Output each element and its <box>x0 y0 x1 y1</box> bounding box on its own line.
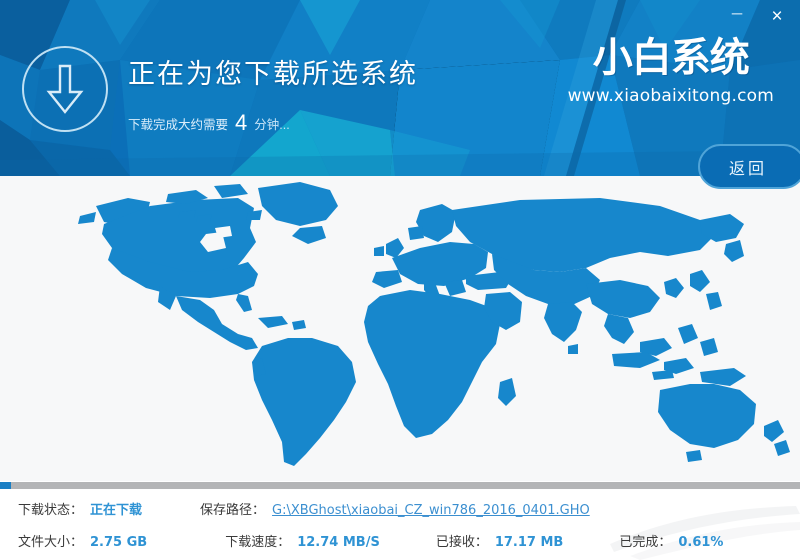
world-map-icon <box>0 176 800 481</box>
brand-name: 小白系统 <box>568 38 774 78</box>
world-map-panel <box>0 176 800 481</box>
value-download-status: 正在下载 <box>90 499 142 518</box>
progress-bar-track[interactable] <box>0 482 800 489</box>
header-banner: – × 正在为您下载所选系统 下载完成大约需要 4 分钟... 小白系统 www… <box>0 0 800 176</box>
eta-line: 下载完成大约需要 4 分钟... <box>128 109 418 135</box>
close-button[interactable]: × <box>764 4 790 28</box>
status-row-secondary: 文件大小： 2.75 GB 下载速度： 12.74 MB/S 已接收： 17.1… <box>0 531 800 550</box>
value-file-size: 2.75 GB <box>90 535 147 550</box>
value-completed: 0.61% <box>678 535 723 550</box>
stat-save-path: 保存路径： G:\XBGhost\xiaobai_CZ_win786_2016_… <box>200 499 590 518</box>
minimize-button[interactable]: – <box>724 4 750 28</box>
download-circle-icon <box>22 46 108 132</box>
eta-prefix: 下载完成大约需要 <box>128 114 228 133</box>
label-received: 已接收： <box>436 531 488 550</box>
progress-bar-fill <box>0 482 11 489</box>
eta-suffix: 分钟... <box>254 114 289 133</box>
status-row-primary: 下载状态： 正在下载 保存路径： G:\XBGhost\xiaobai_CZ_w… <box>0 499 800 518</box>
stat-received: 已接收： 17.17 MB <box>436 531 564 550</box>
label-save-path: 保存路径： <box>200 499 265 518</box>
stat-completed: 已完成： 0.61% <box>619 531 723 550</box>
download-arrow-icon <box>42 62 88 116</box>
header-text-block: 正在为您下载所选系统 下载完成大约需要 4 分钟... <box>128 52 418 135</box>
value-received: 17.17 MB <box>495 535 564 550</box>
value-download-speed: 12.74 MB/S <box>297 535 380 550</box>
window-controls: – × <box>724 4 790 28</box>
eta-minutes: 4 <box>235 110 247 136</box>
brand-logo: 小白系统 www.xiaobaixitong.com <box>568 38 774 106</box>
stat-file-size: 文件大小： 2.75 GB <box>18 531 147 550</box>
value-save-path-link[interactable]: G:\XBGhost\xiaobai_CZ_win786_2016_0401.G… <box>272 503 590 518</box>
brand-url: www.xiaobaixitong.com <box>568 86 774 106</box>
footer-status-bar: 下载状态： 正在下载 保存路径： G:\XBGhost\xiaobai_CZ_w… <box>0 481 800 560</box>
downloader-window: – × 正在为您下载所选系统 下载完成大约需要 4 分钟... 小白系统 www… <box>0 0 800 560</box>
back-button[interactable]: 返回 <box>698 144 800 189</box>
label-download-speed: 下载速度： <box>225 531 290 550</box>
label-download-status: 下载状态： <box>18 499 83 518</box>
stat-download-speed: 下载速度： 12.74 MB/S <box>225 531 380 550</box>
page-title: 正在为您下载所选系统 <box>128 52 418 91</box>
stat-download-status: 下载状态： 正在下载 <box>18 499 142 518</box>
label-completed: 已完成： <box>619 531 671 550</box>
label-file-size: 文件大小： <box>18 531 83 550</box>
